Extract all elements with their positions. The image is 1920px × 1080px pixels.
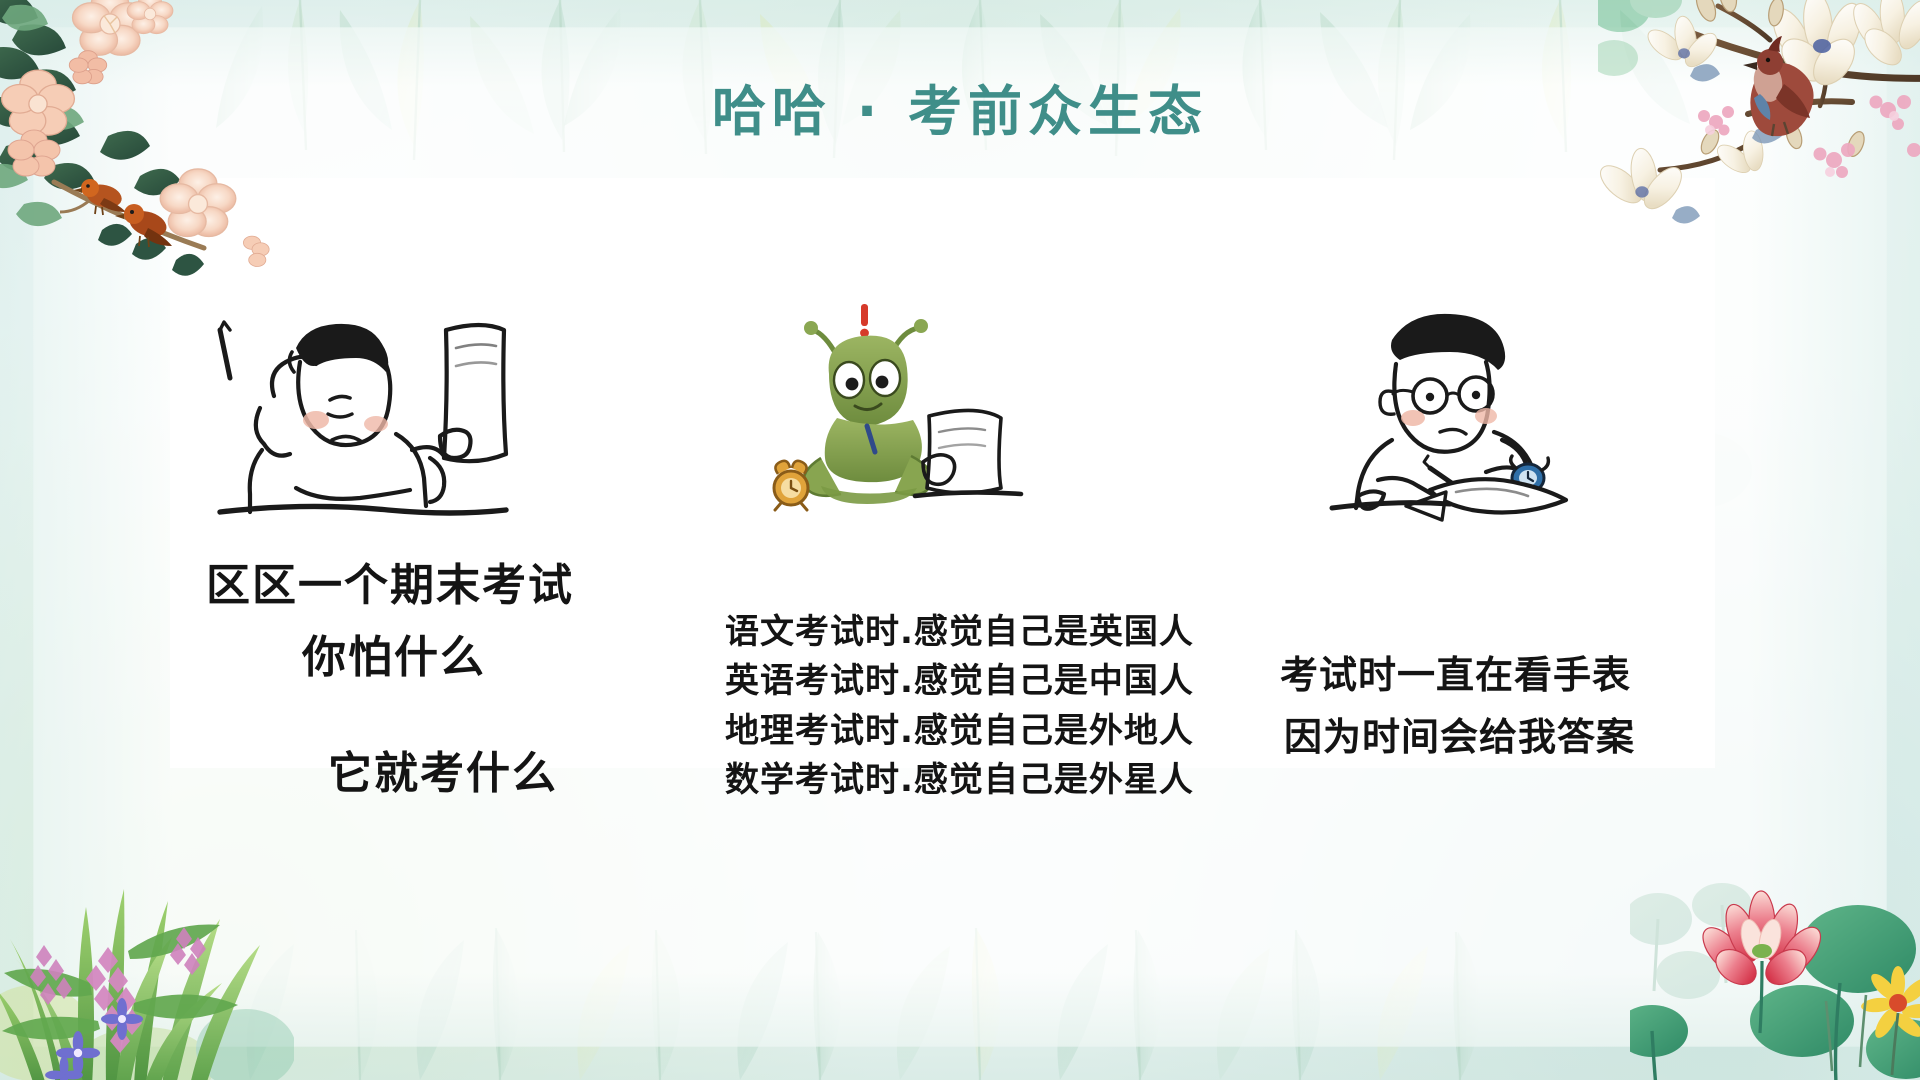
alien-student-illustration bbox=[725, 300, 1225, 530]
panel1-caption-line1: 区区一个期末考试 bbox=[200, 549, 640, 613]
panel3-caption-line1: 考试时一直在看手表 bbox=[1280, 645, 1750, 707]
panel2-caption-line3: 地理考试时.感觉自己是外地人 bbox=[725, 707, 1225, 756]
panel-row: 区区一个期末考试 你怕什么 它就考什么 bbox=[130, 300, 1790, 950]
panel3-caption-line2: 因为时间会给我答案 bbox=[1280, 707, 1750, 769]
panel2-caption-line1: 语文考试时.感觉自己是英国人 bbox=[725, 608, 1225, 657]
page-title: 哈哈 · 考前众生态 bbox=[0, 82, 1920, 142]
panel3-caption-block: 考试时一直在看手表 因为时间会给我答案 bbox=[1280, 645, 1750, 768]
panel-stressed-student: 区区一个期末考试 你怕什么 它就考什么 bbox=[200, 300, 640, 801]
panel-watch-checker: 考试时一直在看手表 因为时间会给我答案 bbox=[1280, 300, 1750, 768]
slide-root: 哈哈 · 考前众生态 bbox=[0, 0, 1920, 1080]
panel2-caption-line4: 数学考试时.感觉自己是外星人 bbox=[725, 756, 1225, 805]
panel2-caption-block: 语文考试时.感觉自己是英国人 英语考试时.感觉自己是中国人 地理考试时.感觉自己… bbox=[725, 608, 1225, 805]
panel1-caption-line3: 它就考什么 bbox=[200, 737, 640, 801]
panel1-caption-line2: 你怕什么 bbox=[200, 621, 640, 685]
panel2-caption-line2: 英语考试时.感觉自己是中国人 bbox=[725, 657, 1225, 706]
watch-checker-illustration bbox=[1280, 300, 1750, 525]
panel-alien-student: 语文考试时.感觉自己是英国人 英语考试时.感觉自己是中国人 地理考试时.感觉自己… bbox=[725, 300, 1225, 805]
stressed-student-illustration bbox=[200, 300, 640, 535]
